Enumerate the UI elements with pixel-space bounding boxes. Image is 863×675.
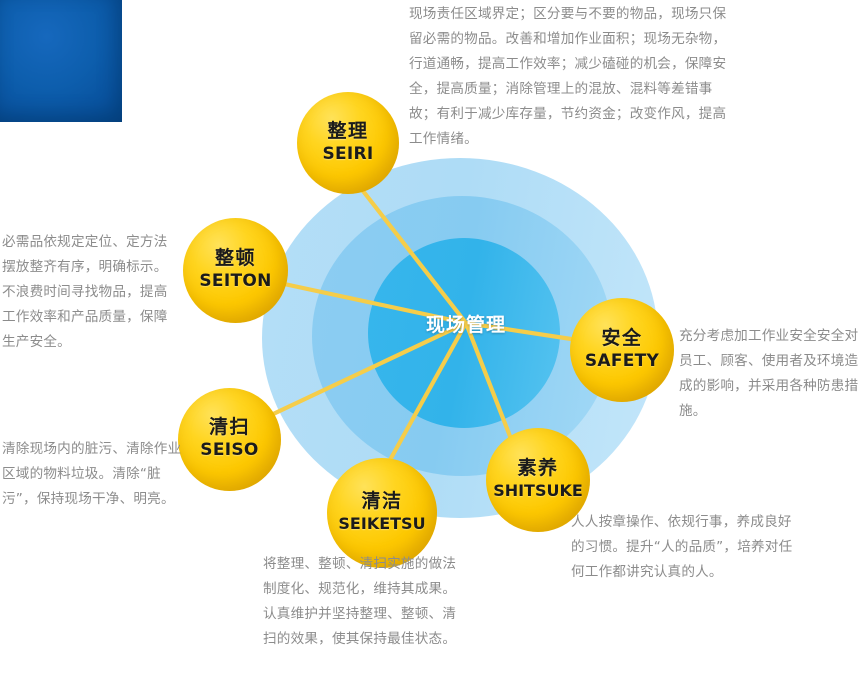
node-safety-cn: 安全 bbox=[601, 329, 642, 349]
description-seiso: 清除现场内的脏污、清除作业区域的物料垃圾。清除“脏污”，保持现场干净、明亮。 bbox=[2, 437, 182, 512]
node-safety-en: SAFETY bbox=[585, 351, 659, 371]
node-safety[interactable]: 安全 SAFETY bbox=[570, 298, 674, 402]
node-seiketsu-en: SEIKETSU bbox=[338, 514, 425, 533]
node-seiri-en: SEIRI bbox=[322, 144, 373, 164]
node-shitsuke-en: SHITSUKE bbox=[493, 481, 583, 500]
description-seiketsu: 将整理、整顿、清扫实施的做法制度化、规范化，维持其成果。认真维护并坚持整理、整顿… bbox=[263, 552, 463, 652]
node-seiso-cn: 清扫 bbox=[209, 418, 250, 438]
node-seiton[interactable]: 整顿 SEITON bbox=[183, 218, 288, 323]
description-seiri: 现场责任区域界定；区分要与不要的物品，现场只保留必需的物品。改善和增加作业面积；… bbox=[409, 2, 727, 152]
node-seiri-cn: 整理 bbox=[327, 122, 368, 142]
description-safety: 充分考虑加工作业安全安全对员工、顾客、使用者及环境造成的影响，并采用各种防患措施… bbox=[679, 324, 859, 424]
diagram-canvas: 现场管理 整理 SEIRI 整顿 SEITON 清扫 SEISO 清洁 SEIK… bbox=[0, 0, 863, 675]
node-shitsuke-cn: 素养 bbox=[517, 459, 558, 479]
description-shitsuke: 人人按章操作、依规行事，养成良好的习惯。提升“人的品质”，培养对任何工作都讲究认… bbox=[571, 510, 793, 585]
description-seiton: 必需品依规定定位、定方法摆放整齐有序，明确标示。不浪费时间寻找物品，提高工作效率… bbox=[2, 230, 174, 355]
center-label: 现场管理 bbox=[405, 262, 527, 384]
node-seiso-en: SEISO bbox=[200, 440, 258, 460]
node-seiri[interactable]: 整理 SEIRI bbox=[297, 92, 399, 194]
node-seiso[interactable]: 清扫 SEISO bbox=[178, 388, 281, 491]
node-seiton-en: SEITON bbox=[199, 271, 271, 291]
node-seiketsu-cn: 清洁 bbox=[361, 492, 402, 512]
node-seiton-cn: 整顿 bbox=[215, 249, 256, 269]
